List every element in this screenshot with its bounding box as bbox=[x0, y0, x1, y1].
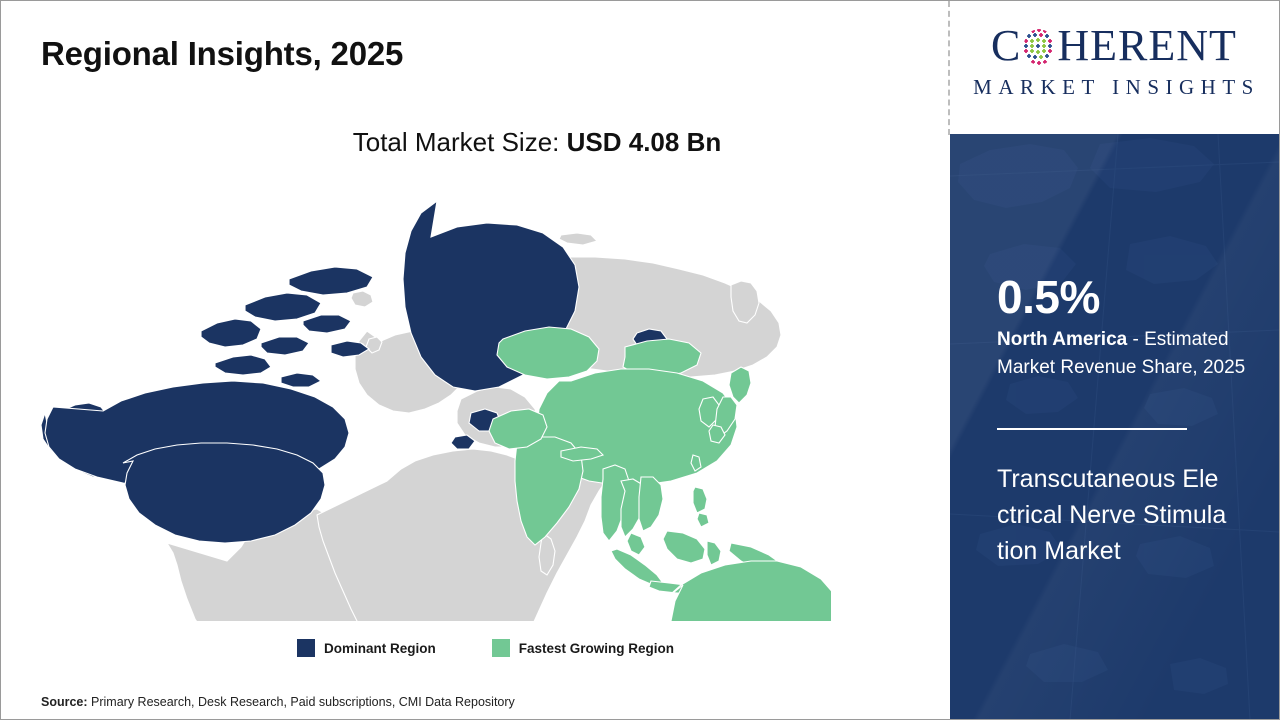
map-country-vietnam bbox=[639, 477, 663, 531]
sidebar-content: 0.5% North America - Estimated Market Re… bbox=[997, 134, 1267, 720]
map-country-australia bbox=[663, 561, 831, 621]
legend-swatch-dominant bbox=[297, 639, 315, 657]
brand-logo: C bbox=[959, 19, 1269, 111]
stat-region: North America bbox=[997, 329, 1127, 350]
map-country-philippines bbox=[693, 487, 707, 513]
page-title: Regional Insights, 2025 bbox=[41, 35, 403, 73]
stat-description: North America - Estimated Market Revenue… bbox=[997, 326, 1262, 381]
total-market-size: Total Market Size: USD 4.08 Bn bbox=[1, 127, 948, 158]
legend-item-dominant: Dominant Region bbox=[297, 639, 436, 657]
slide-root: Regional Insights, 2025 Total Market Siz… bbox=[0, 0, 1280, 720]
world-map bbox=[31, 181, 831, 621]
legend-label-dominant: Dominant Region bbox=[324, 641, 436, 656]
legend-swatch-fastest-growing bbox=[492, 639, 510, 657]
sidebar-panel: 0.5% North America - Estimated Market Re… bbox=[950, 134, 1280, 720]
brand-logo-tagline: MARKET INSIGHTS bbox=[959, 75, 1269, 100]
market-title: Transcutaneous Electrical Nerve Stimulat… bbox=[997, 462, 1227, 569]
brand-logo-letter-c: C bbox=[991, 24, 1021, 68]
world-map-svg bbox=[31, 181, 831, 621]
legend-label-fastest-growing: Fastest Growing Region bbox=[519, 641, 674, 656]
map-legend: Dominant Region Fastest Growing Region bbox=[297, 639, 674, 657]
source-label: Source: bbox=[41, 695, 88, 709]
total-market-size-label: Total Market Size: bbox=[353, 127, 560, 157]
source-note: Source: Primary Research, Desk Research,… bbox=[41, 695, 515, 709]
panel-divider bbox=[948, 1, 950, 135]
brand-logo-text-herent: HERENT bbox=[1057, 24, 1237, 68]
source-text: Primary Research, Desk Research, Paid su… bbox=[88, 695, 515, 709]
globe-icon bbox=[1022, 27, 1056, 67]
total-market-size-value: USD 4.08 Bn bbox=[567, 127, 722, 157]
map-country-japan bbox=[729, 367, 751, 403]
left-panel: Regional Insights, 2025 Total Market Siz… bbox=[1, 1, 948, 720]
brand-logo-wordmark: C bbox=[959, 19, 1269, 73]
legend-item-fastest-growing: Fastest Growing Region bbox=[492, 639, 674, 657]
sidebar-divider-rule bbox=[997, 428, 1187, 430]
stat-value: 0.5% bbox=[997, 274, 1100, 320]
